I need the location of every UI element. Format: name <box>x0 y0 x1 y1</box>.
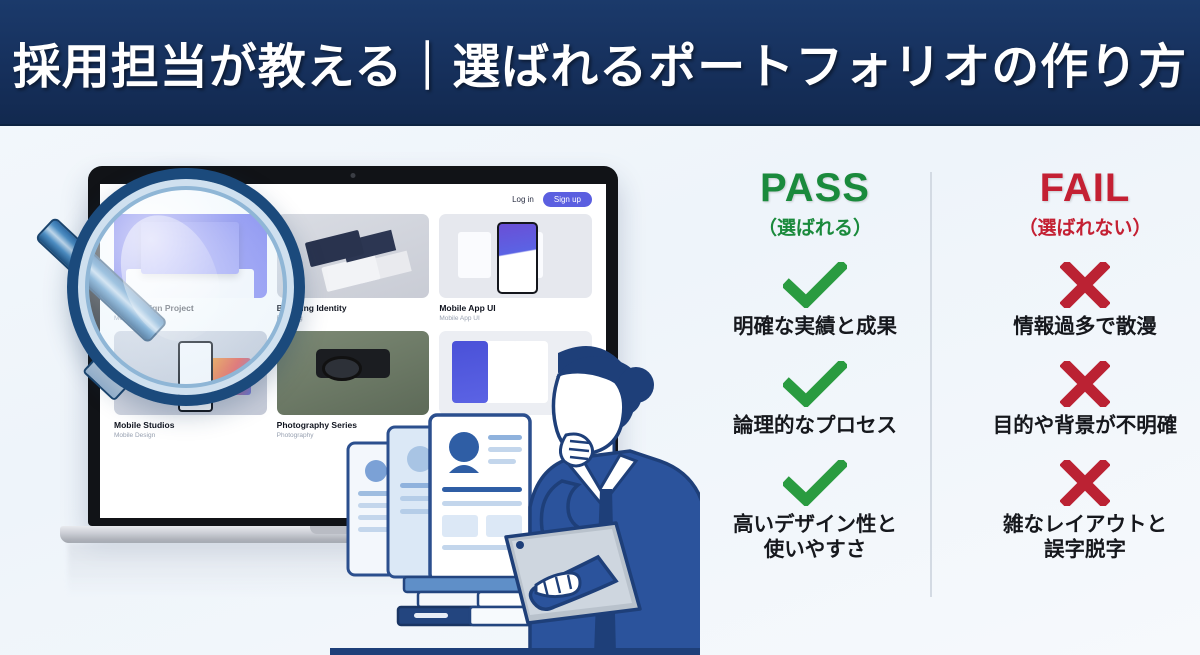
magnifier-icon <box>55 168 305 468</box>
slide-root: 採用担当が教える｜選ばれるポートフォリオの作り方 Log in Sign up … <box>0 0 1200 655</box>
pass-item-label: 明確な実績と成果 <box>700 314 930 339</box>
fail-item: 雑なレイアウトと 誤字脱字 <box>970 460 1200 562</box>
fail-item: 目的や背景が不明確 <box>970 361 1200 438</box>
cross-mark-icon <box>970 361 1200 407</box>
fail-item-label: 雑なレイアウトと 誤字脱字 <box>970 512 1200 562</box>
pass-item-label: 論理的なプロセス <box>700 413 930 438</box>
page-title: 採用担当が教える｜選ばれるポートフォリオの作り方 <box>13 27 1188 97</box>
pass-item: 高いデザイン性と 使いやすさ <box>700 460 930 562</box>
magnifier-glare <box>103 201 237 356</box>
magnifier-lens-ring <box>67 168 305 406</box>
fail-column: FAIL （選ばれない） 情報過多で散漫 目的や背景が不明確 雑なレイアウトと … <box>970 126 1200 562</box>
pass-item-label: 高いデザイン性と 使いやすさ <box>700 512 930 562</box>
login-link[interactable]: Log in <box>512 195 534 204</box>
pass-item: 論理的なプロセス <box>700 361 930 438</box>
check-mark-icon <box>700 361 930 407</box>
portfolio-thumbnail <box>439 214 592 298</box>
portfolio-card[interactable]: Mobile App UI Mobile App UI <box>439 214 592 322</box>
resume-stack-icon <box>348 415 530 581</box>
fail-subheading: （選ばれない） <box>970 213 1200 240</box>
fail-item-label: 目的や背景が不明確 <box>970 413 1200 438</box>
webcam-icon <box>351 173 356 178</box>
fail-item: 情報過多で散漫 <box>970 262 1200 339</box>
fail-heading: FAIL <box>970 166 1200 211</box>
signup-button[interactable]: Sign up <box>543 192 592 207</box>
check-mark-icon <box>700 460 930 506</box>
column-divider <box>930 172 932 597</box>
pass-fail-comparison: PASS （選ばれる） 明確な実績と成果 論理的なプロセス 高いデザイン性と 使… <box>700 126 1200 655</box>
check-mark-icon <box>700 262 930 308</box>
slide-header-bar: 採用担当が教える｜選ばれるポートフォリオの作り方 <box>0 0 1200 126</box>
pass-heading: PASS <box>700 166 930 211</box>
recruiter-illustration-svg <box>330 331 700 655</box>
pass-item: 明確な実績と成果 <box>700 262 930 339</box>
left-illustration-panel: Log in Sign up Web Design Project Mobile… <box>0 126 700 655</box>
portfolio-card-subtitle: Mobile App UI <box>439 315 592 322</box>
portfolio-card-title: Mobile App UI <box>439 303 592 313</box>
pass-subheading: （選ばれる） <box>700 213 930 240</box>
cross-mark-icon <box>970 460 1200 506</box>
recruiter-illustration <box>330 331 700 655</box>
person-figure <box>506 346 700 655</box>
illustration-baseline <box>330 648 700 655</box>
fail-item-label: 情報過多で散漫 <box>970 314 1200 339</box>
cross-mark-icon <box>970 262 1200 308</box>
pass-column: PASS （選ばれる） 明確な実績と成果 論理的なプロセス 高いデザイン性と 使… <box>700 126 930 562</box>
